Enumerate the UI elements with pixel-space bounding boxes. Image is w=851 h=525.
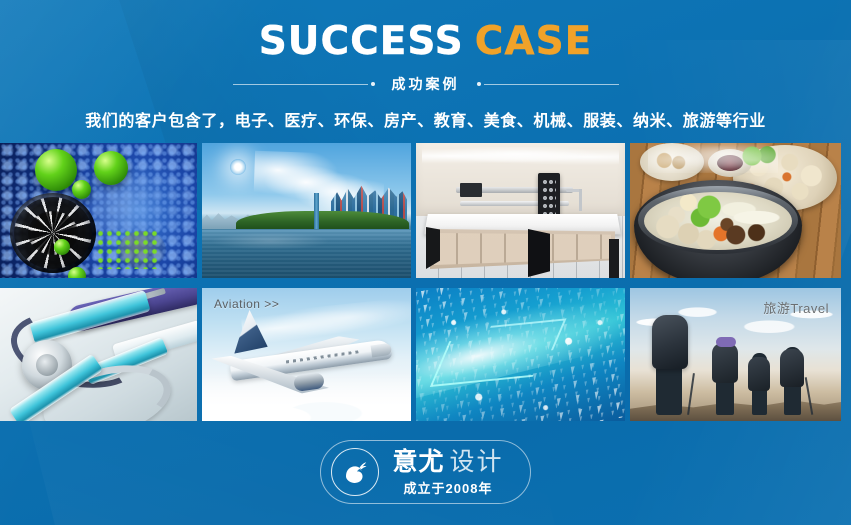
nano-green-sphere [68,267,86,278]
page-title: SUCCESSCASE [0,22,851,61]
ceiling-lights [422,147,619,165]
logo-established: 成立于2008年 [404,482,493,495]
divider-line-left [233,84,368,85]
logo-brand-bold: 意尤 [392,450,444,475]
case-thumb-food[interactable] [630,143,841,278]
case-thumb-electronics[interactable] [416,288,625,421]
travel-image: 旅游Travel [630,288,841,421]
industry-tagline: 我们的客户包含了，电子、医疗、环保、房产、教育、美食、机械、服装、纳米、旅游等行… [0,107,851,131]
smokestack [314,193,319,229]
logo-text-block: 意尤 设计 成立于2008年 [392,450,503,495]
pot-broth [644,192,792,250]
title-word-success: SUCCESS [259,19,464,64]
tree-line [236,211,409,229]
case-thumb-travel[interactable]: 旅游Travel [630,288,841,421]
nanotech-image [0,143,197,278]
nano-green-cluster [96,229,158,269]
lab-furniture-image [416,143,625,278]
subtitle-chinese: 成功案例 [378,74,474,94]
pot-ingredients [644,192,792,250]
logo-frame[interactable]: 意尤 设计 成立于2008年 [320,440,530,504]
steam [648,143,778,173]
logo-brand-line: 意尤 设计 [392,450,503,475]
food-image [630,143,841,278]
hiker-backpack [780,349,804,387]
airplane-nose [371,343,392,358]
aviation-caption: Aviation >> [214,297,279,311]
electronics-image [416,288,625,421]
lab-faucet [566,189,582,192]
nano-green-sphere [72,180,91,199]
lab-monitor [460,183,482,197]
case-thumb-lab-furniture[interactable] [416,143,625,278]
bench-dark-panel-right [609,239,619,278]
medical-image [0,288,197,421]
pen-bird-icon [332,449,378,495]
divider-dot-left [371,82,375,86]
airplane-windows [286,350,360,363]
water-surface [202,230,411,278]
banner-header: SUCCESSCASE 成功案例 我们的客户包含了，电子、医疗、环保、房产、教育… [0,0,851,131]
case-gallery-grid: Aviation >> [0,143,851,421]
circuit-sparkles [416,288,625,421]
nano-green-sphere [94,151,128,185]
success-case-banner: SUCCESSCASE 成功案例 我们的客户包含了，电子、医疗、环保、房产、教育… [0,0,851,525]
bench-dark-panel-mid [528,229,550,277]
title-word-case: CASE [475,19,593,64]
hiker-bedroll [716,337,736,347]
logo-brand-light: 设计 [450,450,504,475]
nano-green-sphere [35,149,77,191]
case-thumb-medical[interactable] [0,288,197,421]
aviation-image: Aviation >> [202,288,411,421]
fullerene-molecule [10,193,96,273]
hotpot [634,180,802,278]
hiker-backpack [748,357,770,391]
logo-mark-circle [331,448,379,496]
hiker-backpack [712,343,738,383]
divider-line-right [484,84,619,85]
brand-logo[interactable]: 意尤 设计 成立于2008年 [0,440,851,504]
title-divider: 成功案例 [0,74,851,94]
travel-caption: 旅游Travel [763,298,829,317]
case-thumb-nanotech[interactable] [0,143,197,278]
environment-image [202,143,411,278]
divider-dot-right [477,82,481,86]
case-thumb-aviation[interactable]: Aviation >> [202,288,411,421]
nano-green-sphere [54,239,70,255]
sun-glow [230,159,246,175]
hiker-backpack [652,315,688,369]
case-thumb-environment[interactable] [202,143,411,278]
